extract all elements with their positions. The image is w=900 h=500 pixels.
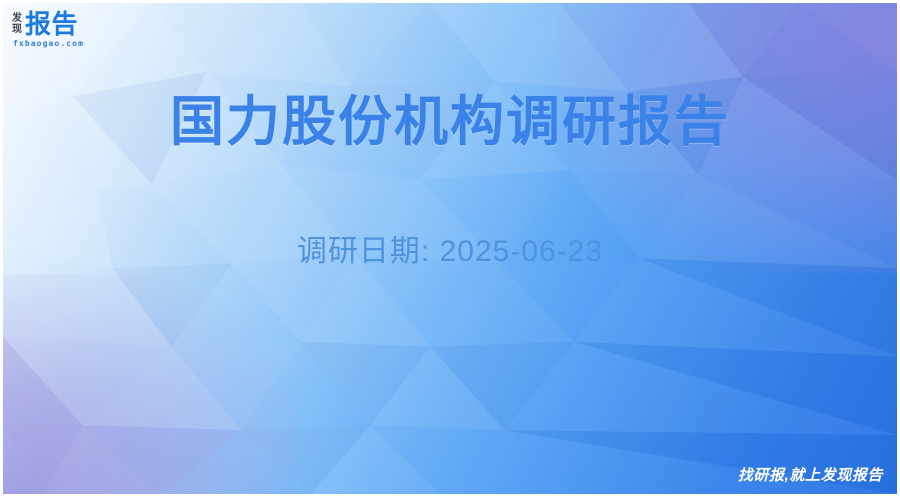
page-subtitle: 调研日期: 2025-06-23 bbox=[3, 232, 897, 272]
brand-url: fxbaogao.com bbox=[13, 40, 84, 48]
brand-logo[interactable]: 发 现 报告 fxbaogao.com bbox=[12, 11, 84, 48]
brand-name: 报告 bbox=[25, 11, 78, 37]
brand-logo-row: 发 现 报告 bbox=[12, 11, 78, 37]
title-block: 国力股份机构调研报告 bbox=[3, 89, 897, 155]
footer-slogan: 找研报,就上发现报告 bbox=[738, 466, 883, 486]
brand-mark-icon: 发 现 bbox=[12, 13, 22, 35]
cover-slide: 发 现 报告 fxbaogao.com 国力股份机构调研报告 调研日期: 202… bbox=[0, 0, 900, 500]
brand-mark-bottom: 现 bbox=[12, 24, 22, 35]
background-tint-bottom-left bbox=[3, 274, 293, 494]
brand-mark-top: 发 bbox=[12, 13, 22, 24]
page-title: 国力股份机构调研报告 bbox=[3, 89, 897, 155]
cover-canvas: 发 现 报告 fxbaogao.com 国力股份机构调研报告 调研日期: 202… bbox=[3, 3, 897, 494]
